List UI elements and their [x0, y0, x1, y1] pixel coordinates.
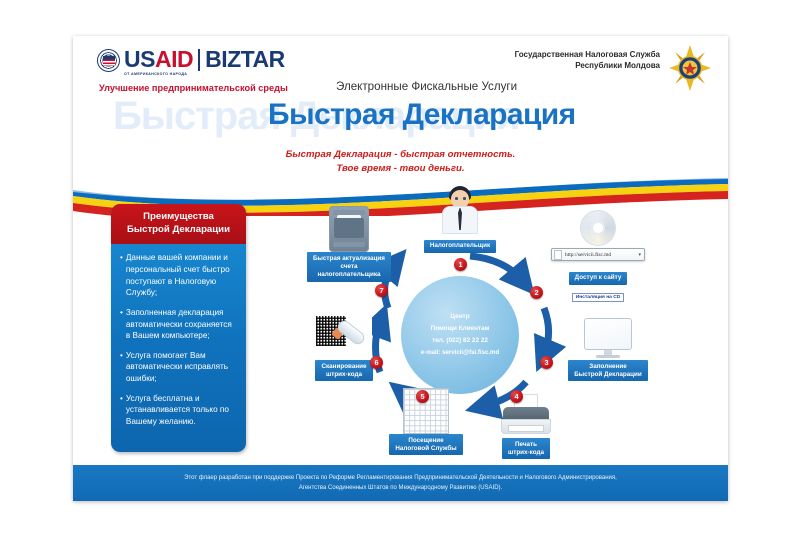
node-fill-declaration: Заполнение Быстрой Декларации	[558, 314, 658, 381]
footer-line-1: Этот флаер разработан при поддержке Прое…	[73, 474, 728, 484]
tagline-block: Быстрая Декларация - быстрая отчетность.…	[73, 148, 728, 176]
center-phone: тел. (022) 82 22 22	[432, 335, 488, 347]
usaid-tagline: ОТ АМЕРИКАНСКОГО НАРОДА	[124, 73, 285, 77]
scan-barcode-label-line-1: Сканирование	[321, 363, 366, 371]
tagline-line-2: Твое время - твои деньги.	[73, 162, 728, 176]
barcode-scanner-icon	[294, 314, 394, 360]
bullet-icon: •	[120, 252, 123, 299]
advantages-title-line-2: Быстрой Декларации	[115, 224, 242, 237]
list-item: • Данные вашей компании и персональный с…	[120, 252, 238, 299]
tax-service-emblem-icon	[668, 44, 712, 92]
step-badge-7: 7	[375, 284, 388, 297]
node-account-update: Быстрая актуализация счета налогоплатель…	[294, 206, 404, 282]
center-line-1: Центр	[450, 311, 469, 323]
fill-declaration-label-line-2: Быстрой Декларации	[574, 371, 642, 379]
node-print-barcode: Печать штрих-кода	[476, 392, 576, 459]
fill-declaration-label: Заполнение Быстрой Декларации	[568, 360, 648, 381]
step-badge-6: 6	[370, 356, 383, 369]
file-cabinet-icon	[294, 206, 404, 252]
list-item-text: Услуга помогает Вам автоматически исправ…	[126, 350, 238, 385]
usaid-aid-text: AID	[155, 48, 193, 71]
step-badge-3: 3	[540, 356, 553, 369]
taxpayer-person-icon	[410, 188, 510, 234]
visit-tax-service-label-line-1: Посещение	[395, 437, 456, 445]
account-update-label-line-3: налогоплательщика	[313, 271, 385, 279]
scan-barcode-label-line-2: штрих-кода	[321, 371, 366, 379]
usaid-us-text: US	[124, 48, 155, 71]
chevron-down-icon[interactable]: ▾	[638, 252, 641, 258]
advantages-header: Преимущества Быстрой Декларации	[111, 204, 246, 244]
footer-line-2: Агентства Соединенных Штатов по Междунар…	[73, 484, 728, 494]
services-line: Электронные Фискальные Услуги	[336, 80, 517, 93]
page-icon	[554, 250, 562, 260]
project-slogan: Улучшение предпринимательской среды	[99, 83, 288, 93]
account-update-label: Быстрая актуализация счета налогоплатель…	[307, 252, 391, 282]
bullet-icon: •	[120, 307, 123, 342]
list-item-text: Данные вашей компании и персональный сче…	[126, 252, 238, 299]
gov-line-2: Республики Молдова	[515, 60, 660, 71]
center-line-2: Помощи Клиентам	[431, 323, 490, 335]
account-update-label-line-1: Быстрая актуализация	[313, 255, 385, 263]
cd-installation-note: Инсталяция на CD	[572, 293, 625, 302]
advantages-card: Преимущества Быстрой Декларации • Данные…	[111, 204, 246, 452]
advantages-list: • Данные вашей компании и персональный с…	[111, 244, 246, 439]
page-title: Быстрая Декларация	[268, 98, 576, 132]
print-barcode-label-line-2: штрих-кода	[508, 449, 544, 457]
step-badge-4: 4	[510, 390, 523, 403]
step-badge-5: 5	[416, 390, 429, 403]
bullet-icon: •	[120, 350, 123, 385]
list-item: • Услуга помогает Вам автоматически испр…	[120, 350, 238, 385]
print-barcode-label-line-1: Печать	[508, 441, 544, 449]
url-text: http://servicii.fisc.md	[565, 252, 611, 258]
visit-tax-service-label: Посещение Налоговой Службы	[389, 434, 462, 455]
visit-tax-service-label-line-2: Налоговой Службы	[395, 445, 456, 453]
printer-icon	[476, 392, 576, 438]
tagline-line-1: Быстрая Декларация - быстрая отчетность.	[73, 148, 728, 162]
cd-disc-icon	[538, 208, 658, 248]
scan-barcode-label: Сканирование штрих-кода	[315, 360, 372, 381]
website-access-label: Доступ к сайту	[569, 272, 628, 285]
node-scan-barcode: Сканирование штрих-кода	[294, 314, 394, 381]
list-item-text: Заполненная декларация автоматически сох…	[126, 307, 238, 342]
help-center-circle: Центр Помощи Клиентам тел. (022) 82 22 2…	[401, 276, 519, 394]
account-update-label-line-2: счета	[313, 263, 385, 271]
list-item: • Услуга бесплатна и устанавливается тол…	[120, 393, 238, 428]
footer-bar: Этот флаер разработан при поддержке Прое…	[73, 465, 728, 501]
fill-declaration-label-line-1: Заполнение	[574, 363, 642, 371]
step-badge-2: 2	[530, 286, 543, 299]
process-cycle-diagram: Центр Помощи Клиентам тел. (022) 82 22 2…	[258, 196, 713, 466]
list-item-text: Услуга бесплатна и устанавливается тольк…	[126, 393, 238, 428]
center-email: e-mail: servicii@fsi.fisc.md	[421, 347, 499, 359]
step-badge-1: 1	[454, 258, 467, 271]
usaid-logo: USAID BIZTAR ОТ АМЕРИКАНСКОГО НАРОДА	[97, 48, 285, 76]
usaid-seal-icon	[97, 49, 120, 72]
print-barcode-label: Печать штрих-кода	[502, 438, 550, 459]
government-title: Государственная Налоговая Служба Республ…	[515, 49, 660, 71]
node-website-access: http://servicii.fisc.md ▾ Доступ к сайту…	[538, 208, 658, 303]
logo-divider	[198, 49, 200, 71]
flyer-canvas: USAID BIZTAR ОТ АМЕРИКАНСКОГО НАРОДА Улу…	[73, 36, 728, 501]
taxpayer-label: Налогоплательщик	[424, 240, 496, 253]
advantages-title-line-1: Преимущества	[115, 211, 242, 224]
bullet-icon: •	[120, 393, 123, 428]
gov-line-1: Государственная Налоговая Служба	[515, 49, 660, 60]
biztar-text: BIZTAR	[205, 48, 285, 71]
browser-url-bar[interactable]: http://servicii.fisc.md ▾	[551, 248, 645, 261]
node-taxpayer: Налогоплательщик	[410, 188, 510, 253]
monitor-icon	[558, 314, 658, 360]
list-item: • Заполненная декларация автоматически с…	[120, 307, 238, 342]
